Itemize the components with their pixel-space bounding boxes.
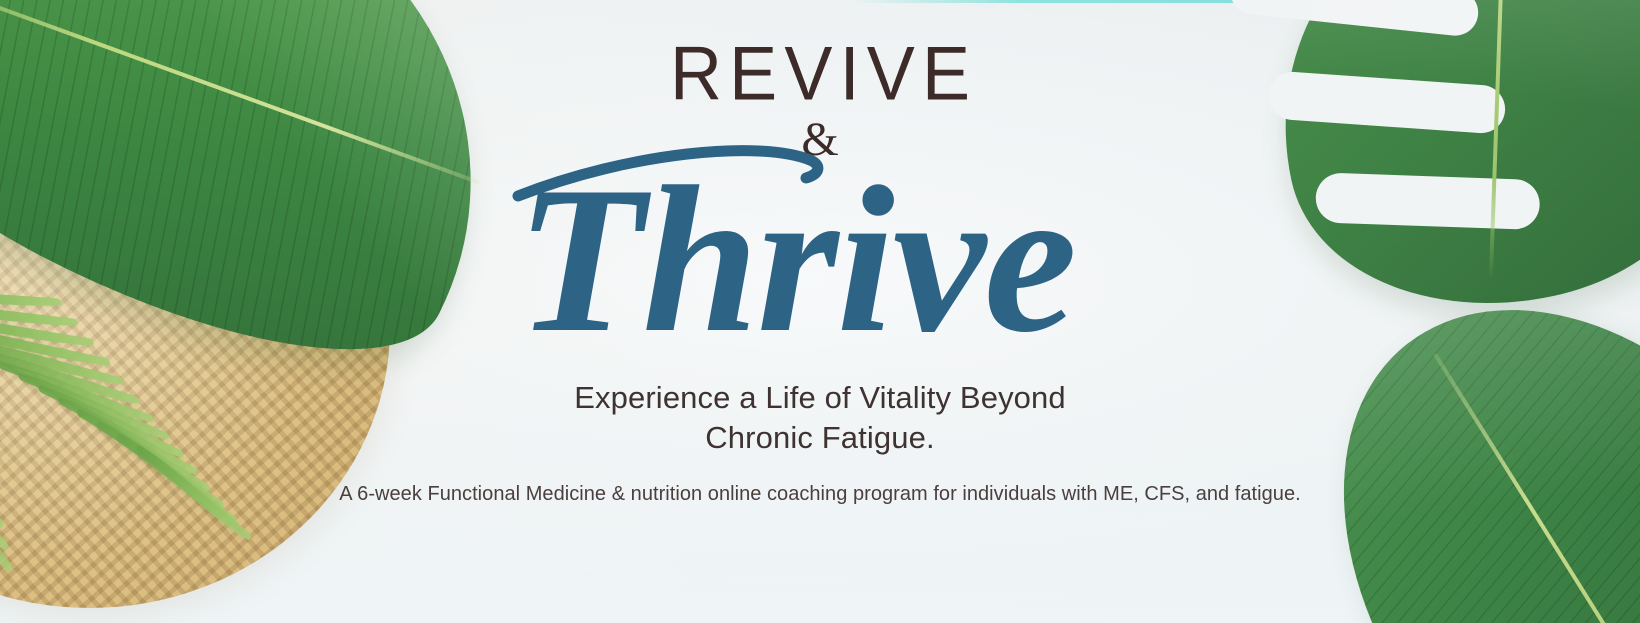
wordmark-revive: REVIVE [663,36,977,112]
banner-tagline: Experience a Life of Vitality Beyond Chr… [574,378,1066,459]
tagline-line-1: Experience a Life of Vitality Beyond [574,380,1066,415]
wordmark-thrive-wrapper: Thrive [510,134,1130,384]
banner-subline: A 6-week Functional Medicine & nutrition… [339,481,1300,507]
thrive-text: Thrive [516,144,1075,376]
tagline-line-2: Chronic Fatigue. [574,418,1066,458]
wordmark-thrive-script: Thrive [510,134,1130,384]
banner-content: REVIVE & Thrive Experience a Life of Vit… [0,0,1640,623]
hero-banner: REVIVE & Thrive Experience a Life of Vit… [0,0,1640,623]
